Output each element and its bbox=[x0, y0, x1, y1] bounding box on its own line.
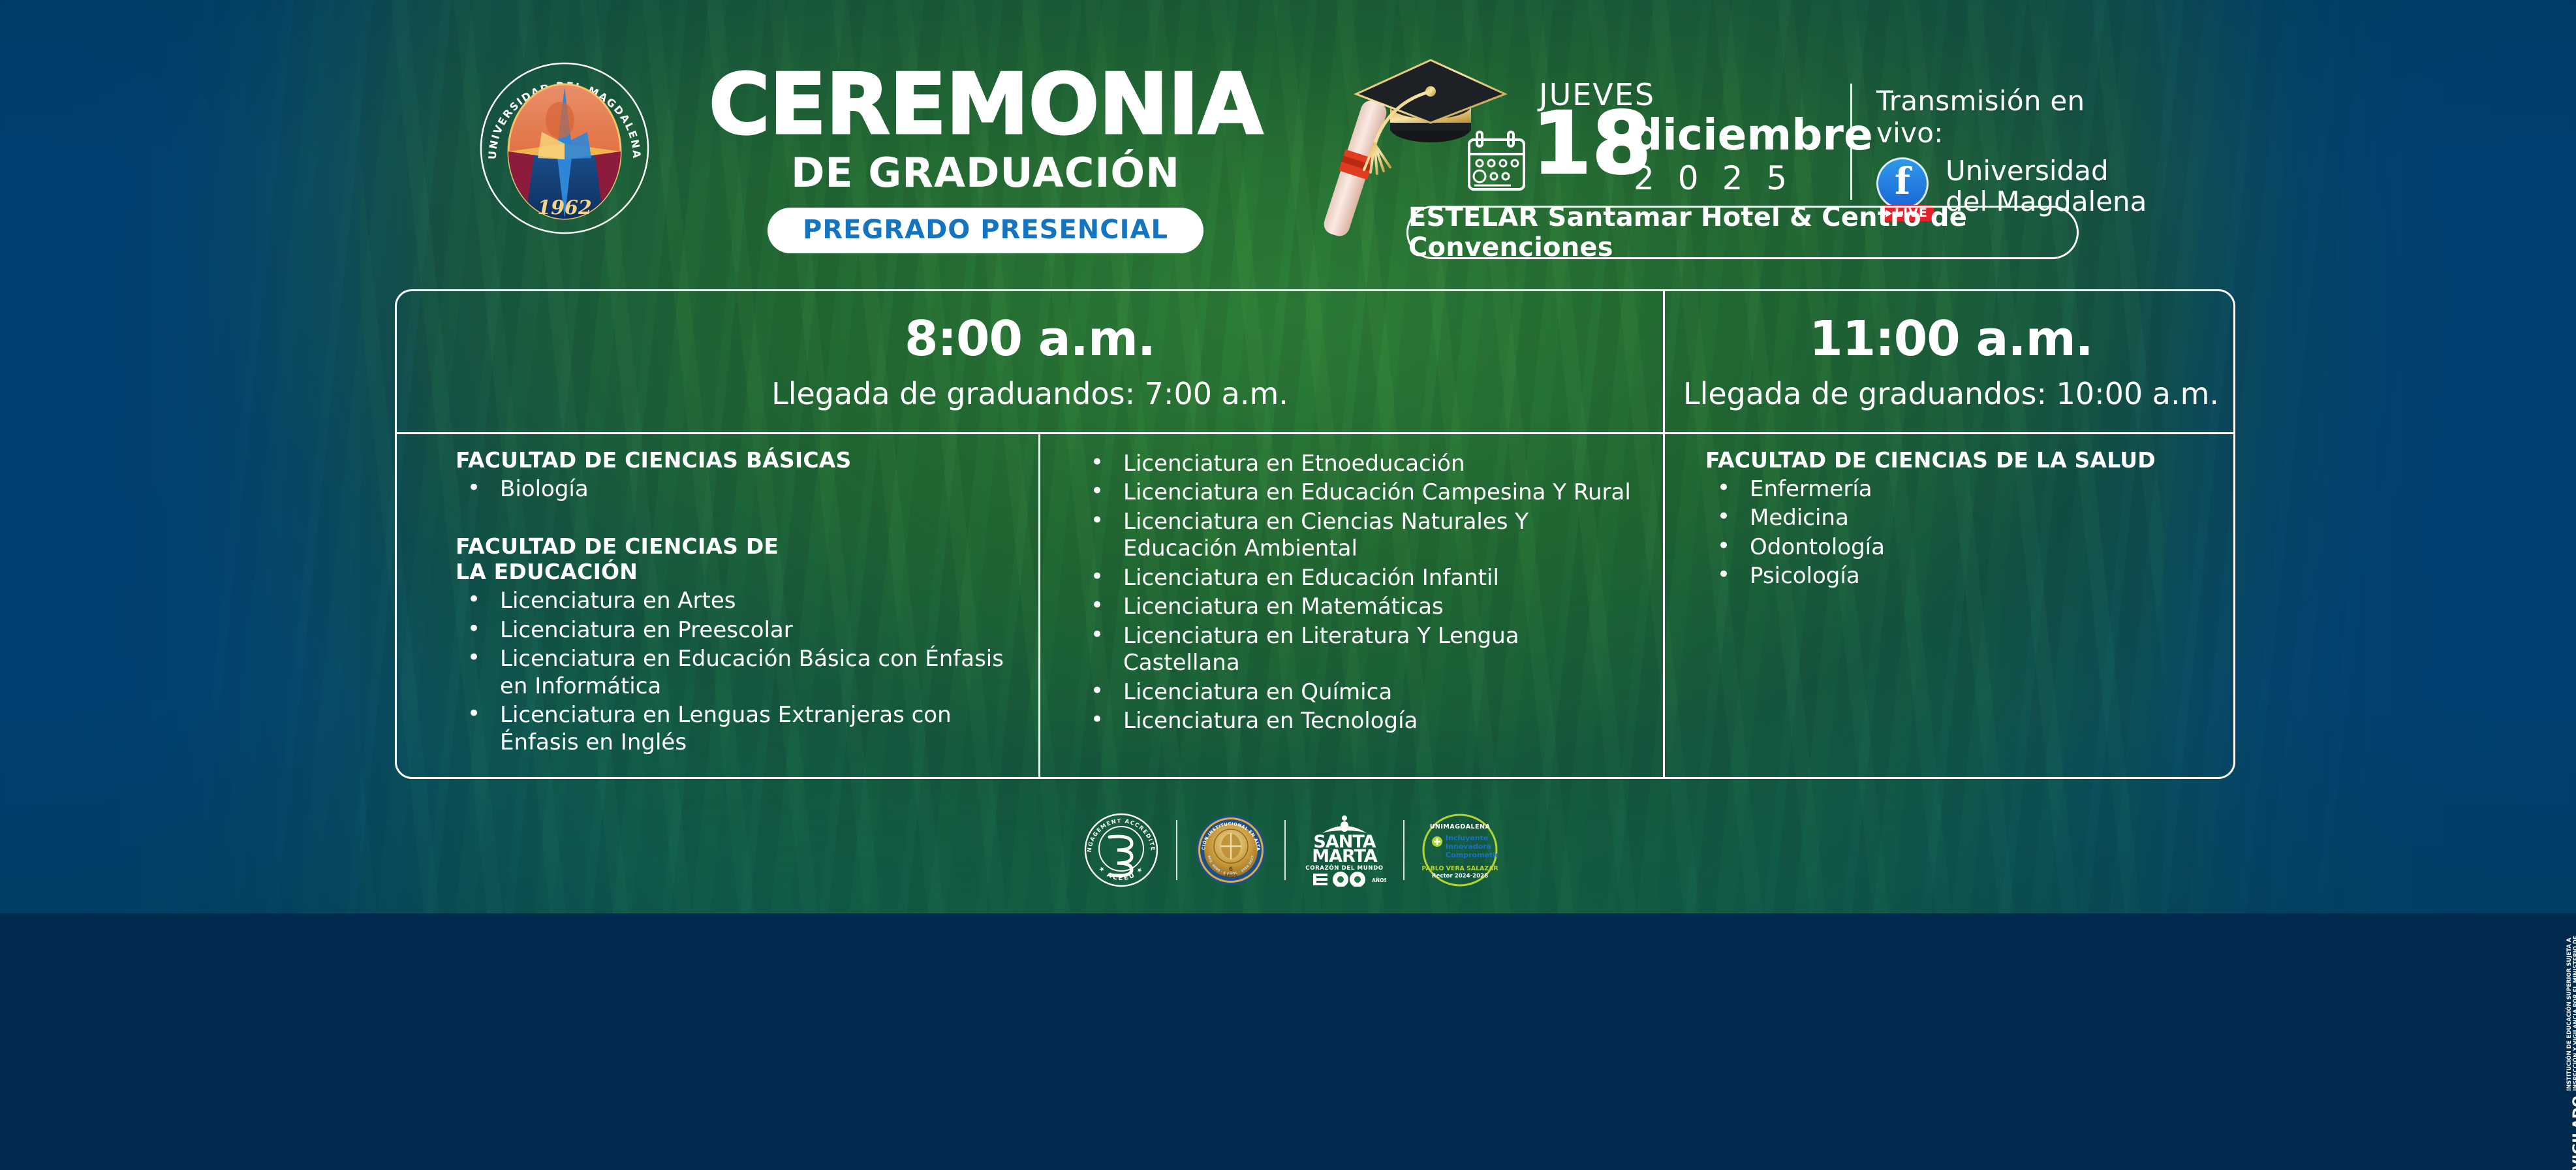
slot-time: 8:00 a.m. bbox=[905, 315, 1155, 363]
santa-marta-500-logo: SANTA MARTA CORAZÓN DEL MUNDO AÑOS bbox=[1303, 814, 1386, 887]
event-date-block: JUEVES 18 diciembre 2025 bbox=[1465, 77, 1883, 201]
svg-text:★ ACEEU ★: ★ ACEEU ★ bbox=[1097, 865, 1145, 882]
slot-arrival: Llegada de graduandos: 10:00 a.m. bbox=[1683, 379, 2219, 409]
footer-divider bbox=[1284, 820, 1286, 880]
unimagdalena-rector-logo: UNIMAGDALENA Incluyente Innovadora Compr… bbox=[1421, 813, 1498, 887]
program-list: Licenciatura en EtnoeducaciónLicenciatur… bbox=[1079, 451, 1640, 735]
program-item: Licenciatura en Tecnología bbox=[1079, 708, 1640, 735]
program-column-1: FACULTAD DE CIENCIAS BÁSICASBiologíaFACU… bbox=[456, 448, 1017, 758]
slot-time: 11:00 a.m. bbox=[1809, 315, 2093, 363]
modality-badge: PREGRADO PRESENCIAL bbox=[768, 208, 1203, 253]
svg-text:6: 6 bbox=[1229, 866, 1233, 873]
schedule-box: 8:00 a.m. Llegada de graduandos: 7:00 a.… bbox=[395, 289, 2235, 779]
program-list: Licenciatura en ArtesLicenciatura en Pre… bbox=[456, 588, 1017, 756]
vigilado-legal-notice: VIGILADO INSTITUCIÓN DE EDUCACIÓN SUPERI… bbox=[2567, 928, 2576, 1170]
svg-text:MARTA: MARTA bbox=[1312, 846, 1378, 866]
svg-text:CORAZÓN DEL MUNDO: CORAZÓN DEL MUNDO bbox=[1305, 864, 1383, 872]
program-column-2: Licenciatura en EtnoeducaciónLicenciatur… bbox=[1079, 448, 1640, 737]
svg-text:ENGAGEMENT ACCREDITED: ENGAGEMENT ACCREDITED bbox=[1083, 812, 1156, 853]
faculty-heading: FACULTAD DE CIENCIAS DE LA SALUD bbox=[1705, 448, 2221, 473]
svg-text:Rector 2024-2028: Rector 2024-2028 bbox=[1432, 873, 1488, 879]
program-item: Licenciatura en Química bbox=[1079, 679, 1640, 706]
calendar-icon bbox=[1465, 129, 1528, 195]
program-item: Biología bbox=[456, 476, 1017, 503]
live-label: Transmisión en vivo: bbox=[1876, 85, 2150, 149]
vigilado-text: INSTITUCIÓN DE EDUCACIÓN SUPERIOR SUJETA… bbox=[2567, 928, 2576, 1091]
faculty-heading: FACULTAD DE CIENCIAS DELA EDUCACIÓN bbox=[456, 534, 1017, 585]
svg-text:PABLO VERA SALAZAR: PABLO VERA SALAZAR bbox=[1421, 865, 1498, 872]
header-divider bbox=[1850, 84, 1852, 200]
program-list: Biología bbox=[456, 476, 1017, 503]
program-item: Psicología bbox=[1705, 563, 2221, 590]
facebook-f-glyph: f bbox=[1895, 163, 1910, 200]
program-item: Licenciatura en Matemáticas bbox=[1079, 593, 1640, 620]
program-item: Licenciatura en Educación Campesina Y Ru… bbox=[1079, 479, 1640, 506]
university-crest-icon: UNIVERSIDAD DEL MAGDALENA 1962 bbox=[476, 60, 653, 236]
program-item: Licenciatura en Literatura Y Lengua Cast… bbox=[1079, 623, 1640, 677]
program-column-3: FACULTAD DE CIENCIAS DE LA SALUDEnfermer… bbox=[1705, 448, 2221, 592]
title-block: CEREMONIA DE GRADUACIÓN PREGRADO PRESENC… bbox=[692, 65, 1279, 253]
footer-logos: ENGAGEMENT ACCREDITED ★ ACEEU ★ bbox=[1083, 808, 1498, 892]
footer-divider bbox=[1176, 820, 1177, 880]
svg-text:AÑOS: AÑOS bbox=[1372, 877, 1386, 883]
svg-text:Incluyente: Incluyente bbox=[1446, 834, 1488, 842]
program-item: Licenciatura en Etnoeducación bbox=[1079, 451, 1640, 477]
schedule-header-divider bbox=[397, 432, 2233, 434]
program-list: EnfermeríaMedicinaOdontologíaPsicología bbox=[1705, 476, 2221, 590]
month-name: diciembre bbox=[1632, 114, 1873, 157]
program-item: Licenciatura en Lenguas Extranjeras con … bbox=[456, 702, 1017, 756]
page-subtitle: DE GRADUACIÓN bbox=[692, 150, 1279, 196]
program-item: Licenciatura en Educación Básica con Énf… bbox=[456, 646, 1017, 700]
slot-header-late-morning: 11:00 a.m. Llegada de graduandos: 10:00 … bbox=[1665, 291, 2237, 432]
venue-pill: ESTELAR Santamar Hotel & Centro de Conve… bbox=[1406, 206, 2079, 259]
live-broadcast-block: Transmisión en vivo: f LIVE Universidad … bbox=[1876, 85, 2150, 217]
live-channel-line1: Universidad bbox=[1946, 155, 2147, 186]
high-quality-accreditation-seal: ACREDITACIÓN INSTITUCIONAL EN ALTA CALID… bbox=[1194, 814, 1267, 887]
year: 2025 bbox=[1634, 159, 1810, 197]
footer-divider bbox=[1403, 820, 1404, 880]
program-item: Licenciatura en Preescolar bbox=[456, 617, 1017, 644]
aceeu-accreditation-logo: ENGAGEMENT ACCREDITED ★ ACEEU ★ bbox=[1083, 812, 1159, 888]
program-item: Medicina bbox=[1705, 505, 2221, 531]
schedule-column-divider bbox=[1038, 434, 1040, 779]
svg-text:AÑOS: AÑOS bbox=[1224, 874, 1237, 878]
program-item: Licenciatura en Artes bbox=[456, 588, 1017, 614]
vigilado-word: VIGILADO bbox=[2571, 1096, 2576, 1170]
program-item: Enfermería bbox=[1705, 476, 2221, 503]
svg-text:Innovadora: Innovadora bbox=[1446, 842, 1491, 851]
slot-arrival: Llegada de graduandos: 7:00 a.m. bbox=[771, 379, 1288, 409]
svg-text:1962: 1962 bbox=[537, 197, 592, 219]
svg-text:Comprometida: Comprometida bbox=[1446, 851, 1498, 859]
program-item: Licenciatura en Ciencias Naturales Y Edu… bbox=[1079, 509, 1640, 563]
svg-text:UNIMAGDALENA: UNIMAGDALENA bbox=[1430, 823, 1491, 830]
program-item: Licenciatura en Educación Infantil bbox=[1079, 565, 1640, 592]
program-item: Odontología bbox=[1705, 534, 2221, 561]
slot-header-morning: 8:00 a.m. Llegada de graduandos: 7:00 a.… bbox=[397, 291, 1663, 432]
page-title: CEREMONIA bbox=[692, 65, 1279, 146]
header: UNIVERSIDAD DEL MAGDALENA 1962 CEREMONIA… bbox=[0, 0, 2576, 281]
faculty-heading: FACULTAD DE CIENCIAS BÁSICAS bbox=[456, 448, 1017, 473]
